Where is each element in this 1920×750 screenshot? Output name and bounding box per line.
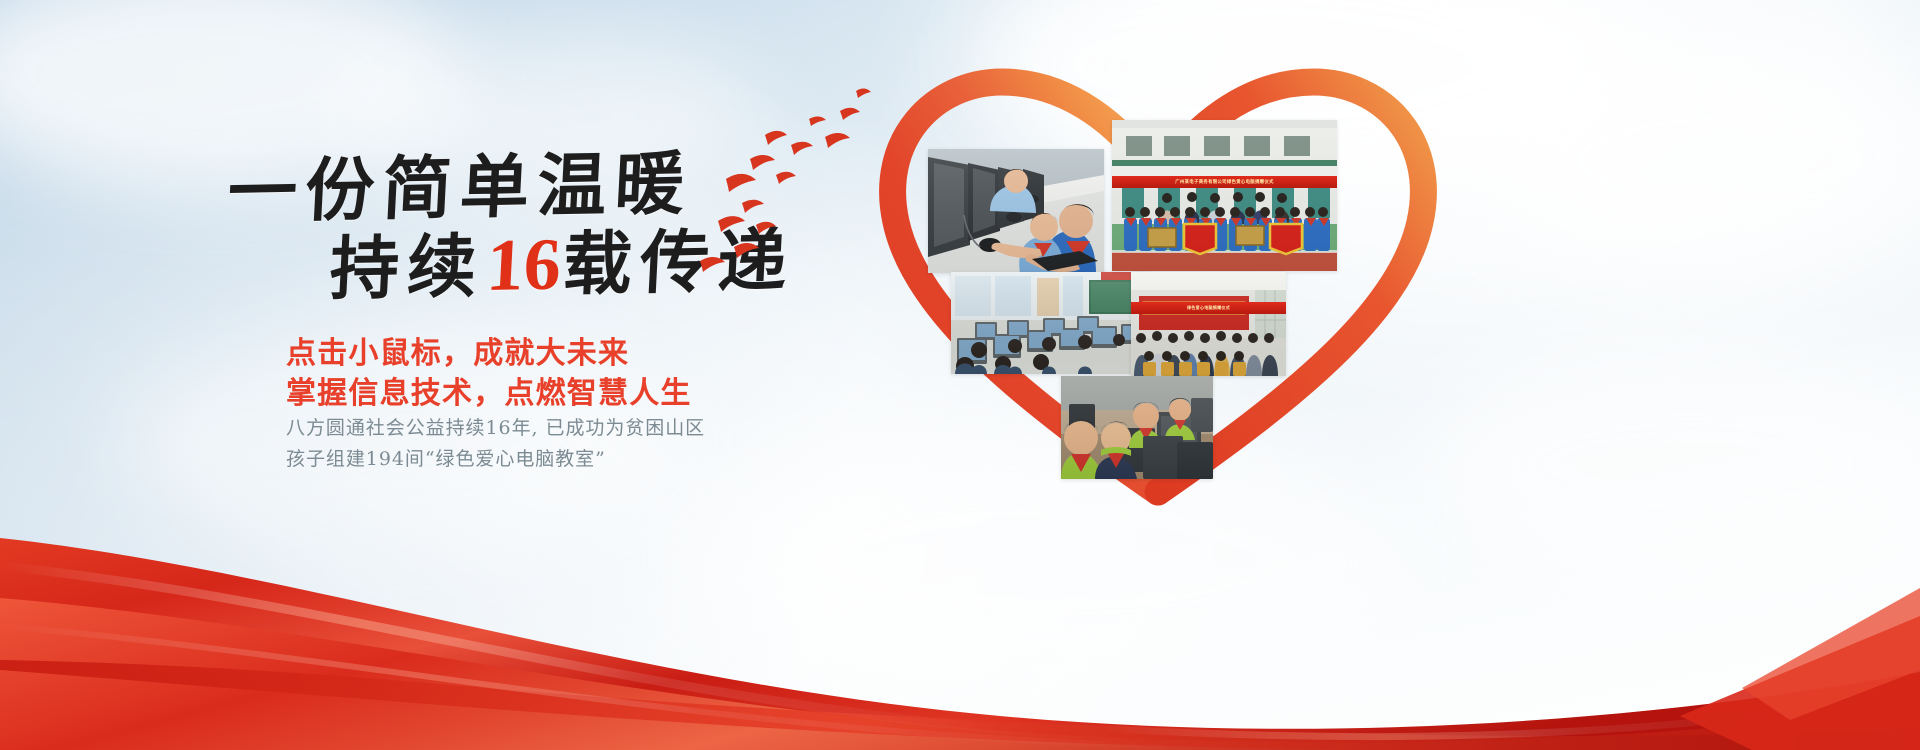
photo-donation-ceremony-indoor-image — [1131, 272, 1286, 376]
headline-line-1: 一份简单温暖 — [226, 149, 694, 227]
headline-years-number: 16 — [483, 224, 565, 307]
subheadline-line-1: 点击小鼠标，成就大未来 — [286, 328, 629, 372]
photo-donation-ceremony-outdoor-image — [1112, 120, 1337, 271]
red-ribbon-wave — [0, 420, 1920, 750]
photo-donation-ceremony-outdoor: 广州某电子商务有限公司绿色爱心电脑捐赠仪式 — [1112, 120, 1337, 271]
photo-donation-ceremony-outdoor-banner-text: 广州某电子商务有限公司绿色爱心电脑捐赠仪式 — [1112, 176, 1337, 188]
headline-line-2-prefix: 持续 — [328, 226, 487, 310]
charity-banner: 一份简单温暖 持续16载传递 点击小鼠标，成就大未来 掌握信息技术，点燃智慧人生… — [0, 0, 1920, 750]
photo-donation-ceremony-indoor: 绿色爱心电脑捐赠仪式 — [1131, 272, 1286, 376]
photo-computer-classroom-image — [951, 272, 1151, 374]
photo-computer-classroom — [951, 272, 1151, 374]
photo-kids-at-computers — [928, 149, 1104, 273]
subheadline-line-2: 掌握信息技术，点燃智慧人生 — [286, 368, 692, 412]
photo-kids-at-computers-image — [928, 149, 1104, 273]
photo-donation-ceremony-indoor-banner-text: 绿色爱心电脑捐赠仪式 — [1131, 302, 1286, 313]
